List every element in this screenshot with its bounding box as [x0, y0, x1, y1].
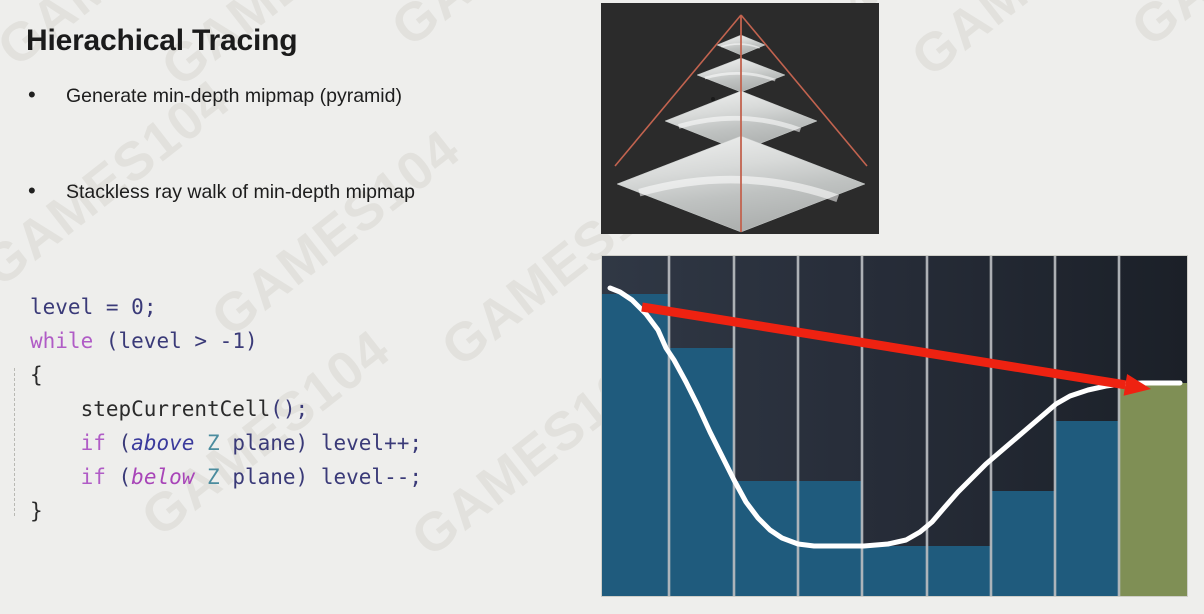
code-token: Z — [207, 431, 220, 455]
code-block: level = 0;while (level > -1){ stepCurren… — [30, 290, 422, 528]
code-token: } — [30, 499, 43, 523]
bullet-text-1: Stackless ray walk of min-depth mipmap — [66, 180, 415, 204]
code-token: plane) — [220, 431, 321, 455]
min-depth-cell-6 — [991, 491, 1055, 596]
code-token — [30, 431, 81, 455]
code-indent-guide — [14, 368, 15, 516]
bullet-marker-icon: • — [28, 180, 46, 202]
bullet-text-0: Generate min-depth mipmap (pyramid) — [66, 84, 402, 108]
code-token: ; — [144, 295, 157, 319]
code-line: if (above Z plane) level++; — [30, 426, 422, 460]
code-token: below — [131, 465, 194, 489]
code-token: ( — [106, 431, 131, 455]
code-token: ++; — [384, 431, 422, 455]
code-token: plane) — [220, 465, 321, 489]
code-token: level — [119, 329, 182, 353]
hiz-traversal-illustration — [602, 256, 1187, 596]
code-token: if — [81, 465, 106, 489]
hiz-traversal-figure — [601, 255, 1188, 597]
mipmap-pyramid-figure — [601, 3, 879, 234]
code-line: level = 0; — [30, 290, 422, 324]
code-token: 0 — [131, 295, 144, 319]
min-depth-cell-4 — [862, 546, 927, 596]
code-token: level — [321, 465, 384, 489]
bullet-item-0: • Generate min-depth mipmap (pyramid) — [28, 84, 588, 108]
code-token: ( — [106, 465, 131, 489]
watermark-text: GAMES104 — [1120, 0, 1204, 59]
code-token: Z — [207, 465, 220, 489]
code-token: (); — [270, 397, 308, 421]
code-token: > — [182, 329, 220, 353]
code-token: = — [93, 295, 131, 319]
code-token — [194, 465, 207, 489]
code-line: while (level > -1) — [30, 324, 422, 358]
code-line: stepCurrentCell(); — [30, 392, 422, 426]
min-depth-cell-7 — [1055, 421, 1119, 596]
code-token: ( — [93, 329, 118, 353]
min-depth-cell-5 — [927, 546, 991, 596]
min-depth-cell-3 — [798, 481, 862, 596]
code-line: if (below Z plane) level--; — [30, 460, 422, 494]
code-token: ) — [245, 329, 258, 353]
watermark-text: GAMES104 — [900, 0, 1172, 89]
code-token — [194, 431, 207, 455]
page-title: Hierachical Tracing — [26, 24, 297, 58]
mipmap-pyramid-illustration — [601, 3, 879, 234]
bullet-marker-icon: • — [28, 84, 46, 106]
min-depth-cell-0 — [602, 294, 669, 596]
code-token: if — [81, 431, 106, 455]
bullet-item-1: • Stackless ray walk of min-depth mipmap — [28, 180, 588, 204]
code-token: above — [131, 431, 194, 455]
code-token: stepCurrentCell — [81, 397, 271, 421]
code-token: while — [30, 329, 93, 353]
code-line: { — [30, 358, 422, 392]
code-token — [30, 397, 81, 421]
code-line: } — [30, 494, 422, 528]
code-token: level — [321, 431, 384, 455]
code-token: --; — [384, 465, 422, 489]
surface-probe-dot — [711, 97, 715, 101]
code-token — [30, 465, 81, 489]
code-token: level — [30, 295, 93, 319]
code-token: -1 — [220, 329, 245, 353]
min-depth-cell-1 — [669, 348, 734, 596]
code-token: { — [30, 363, 43, 387]
